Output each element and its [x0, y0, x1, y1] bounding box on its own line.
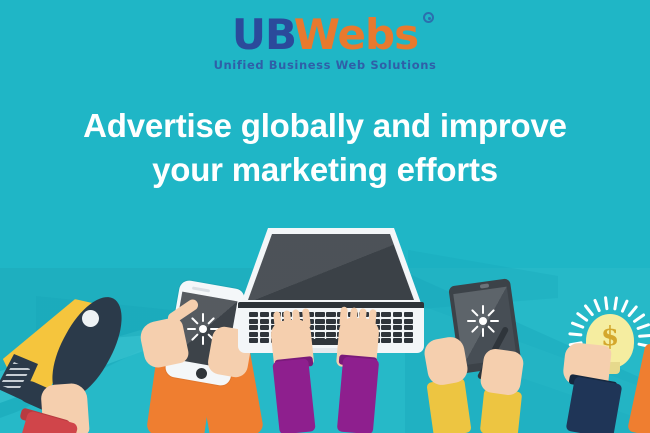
lightbulb-ray [632, 313, 645, 323]
tablet-tap-cursor-dot [479, 317, 487, 325]
laptop-key [249, 338, 258, 343]
lightbulb-ray [638, 334, 650, 337]
laptop-fingers-left [273, 308, 310, 332]
tap-ray [487, 325, 495, 333]
laptop-screen-highlight [248, 234, 414, 300]
tap-ray [202, 313, 204, 322]
tap-ray [191, 317, 199, 325]
tablet-sleeve-left [426, 378, 471, 433]
laptop-fingers-right [339, 306, 376, 329]
laptop-icon [238, 228, 424, 353]
laptop-key [381, 312, 390, 317]
lightbulb-ray [576, 312, 589, 322]
lightbulb-ray [613, 296, 618, 310]
illustration: $ [0, 0, 650, 433]
laptop-key [326, 319, 335, 324]
tablet-tap-cursor-icon [470, 308, 496, 334]
laptop-key [260, 332, 269, 337]
laptop-key [404, 332, 413, 337]
tap-ray [471, 325, 479, 333]
advertising-banner: UBWebs Unified Business Web Solutions Ad… [0, 0, 650, 433]
laptop-key [326, 325, 335, 330]
laptop-key [326, 332, 335, 337]
laptop-key [404, 325, 413, 330]
tap-ray [191, 333, 199, 341]
tap-cursor-dot [199, 325, 207, 333]
laptop-key [249, 332, 258, 337]
laptop-key [404, 312, 413, 317]
lightbulb-ray [568, 333, 582, 337]
laptop-key [393, 319, 402, 324]
phone-hand-pointing [138, 316, 191, 370]
laptop-key [260, 325, 269, 330]
laptop-key [326, 312, 335, 317]
tablet-sleeve-right [480, 388, 522, 433]
megaphone-light [82, 310, 99, 327]
lightbulb-ray [604, 296, 608, 310]
tap-ray [482, 328, 484, 337]
laptop-key [315, 325, 324, 330]
tap-ray [490, 320, 499, 322]
laptop-key [393, 332, 402, 337]
laptop-key [249, 312, 258, 317]
laptop-sleeve-right [337, 357, 379, 433]
lightbulb-ray [571, 322, 585, 329]
tap-ray [202, 336, 204, 345]
laptop-key [260, 319, 269, 324]
laptop-key [260, 338, 269, 343]
lightbulb-ray [593, 299, 601, 313]
tap-ray [467, 320, 476, 322]
laptop-key [404, 319, 413, 324]
laptop-key [381, 325, 390, 330]
laptop-key [260, 312, 269, 317]
laptop-key [393, 325, 402, 330]
laptop-key [315, 332, 324, 337]
laptop-key [381, 338, 390, 343]
laptop-key [381, 332, 390, 337]
laptop-key [393, 338, 402, 343]
laptop-key [249, 325, 258, 330]
laptop-key [315, 312, 324, 317]
tap-ray [482, 305, 484, 314]
laptop-sleeve-left [272, 358, 315, 433]
laptop-key [393, 312, 402, 317]
megaphone-icon [0, 288, 146, 433]
lightbulb-ray [620, 299, 628, 313]
tap-ray [487, 309, 495, 317]
tablet-hand-right [479, 347, 525, 396]
tablet-group [430, 280, 560, 433]
laptop-key [404, 338, 413, 343]
laptop-key [381, 319, 390, 324]
lightbulb-ray [636, 323, 650, 330]
tap-ray [187, 328, 196, 330]
tap-ray [471, 309, 479, 317]
lightbulb-sleeve [566, 376, 623, 433]
tap-ray [207, 317, 215, 325]
lightbulb-ray [627, 305, 638, 317]
laptop-key [315, 319, 324, 324]
laptop-key [249, 319, 258, 324]
lightbulb-ray [583, 304, 594, 317]
